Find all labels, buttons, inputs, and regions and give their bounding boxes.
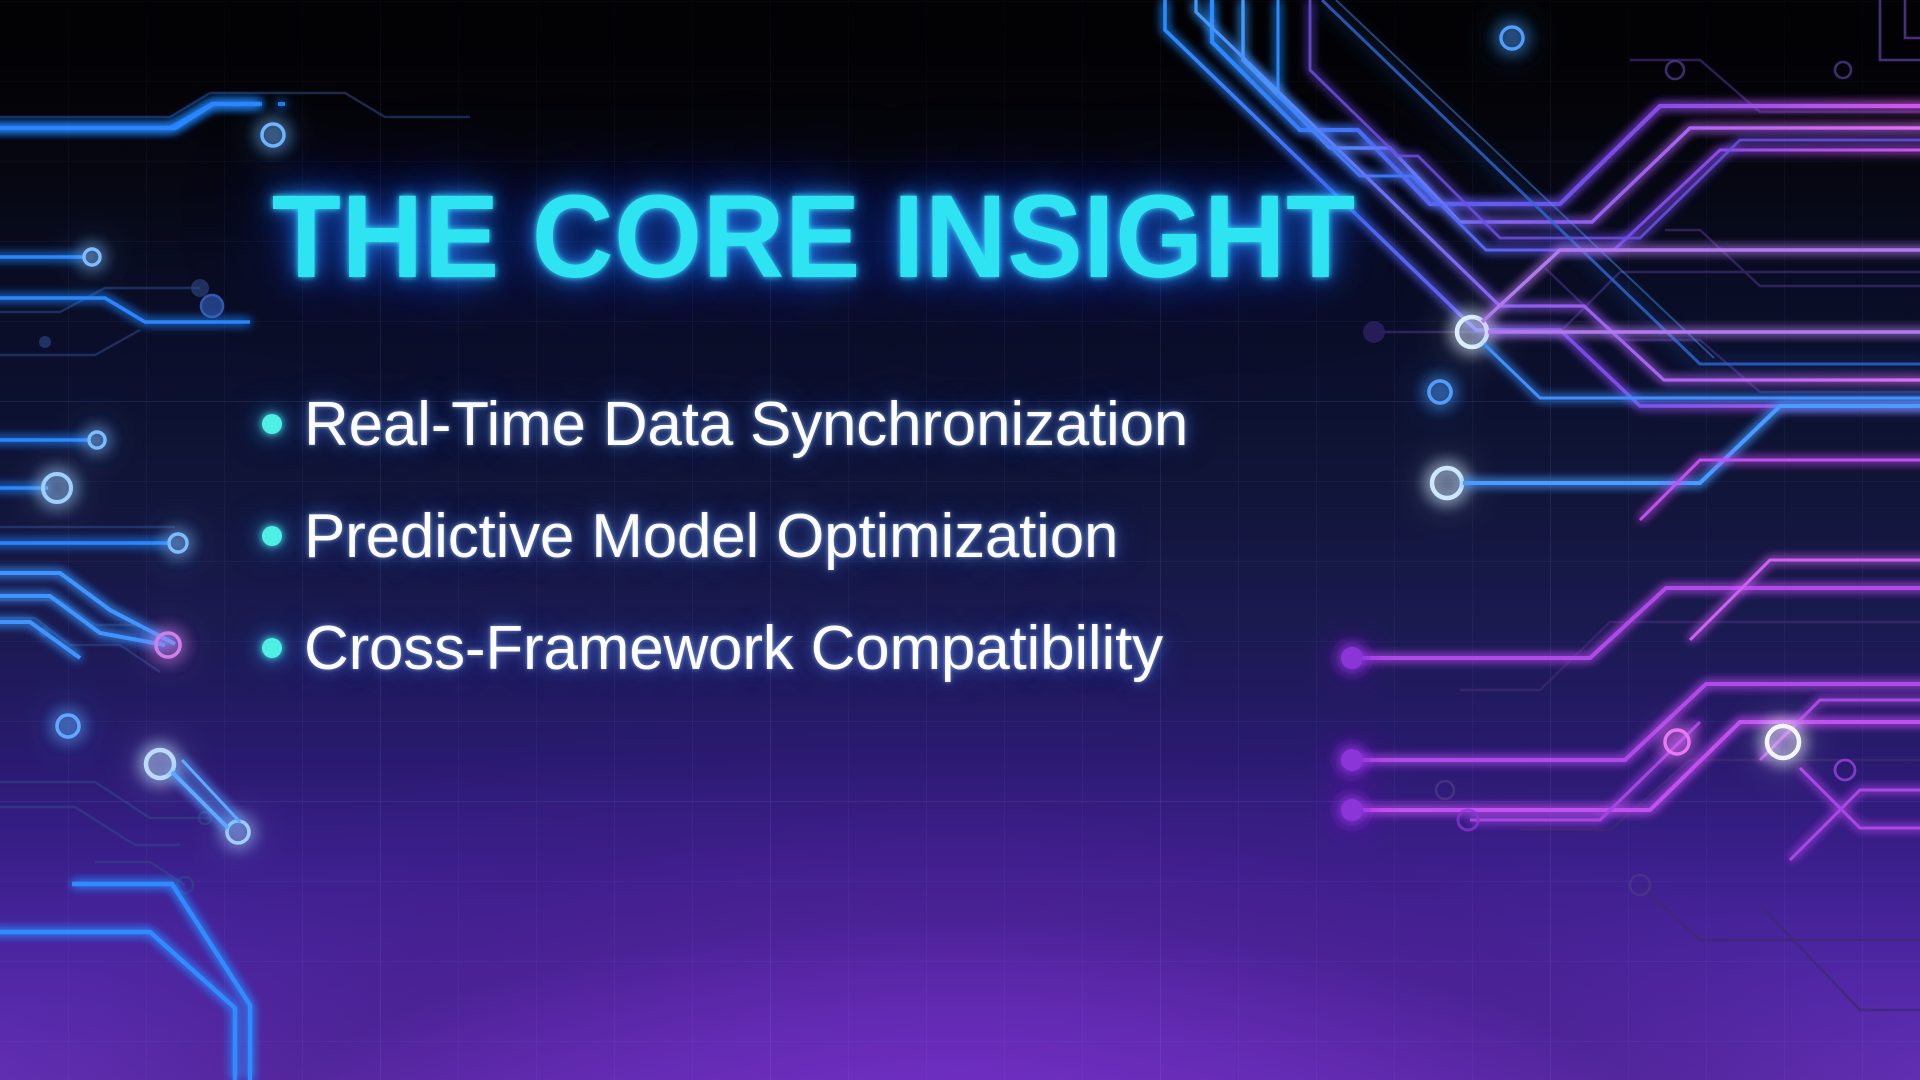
list-item-label: Cross-Framework Compatibility: [304, 613, 1163, 684]
slide-canvas: THE CORE INSIGHT Real-Time Data Synchron…: [0, 0, 1920, 1080]
page-title: THE CORE INSIGHT: [272, 178, 1318, 296]
slide-content: THE CORE INSIGHT Real-Time Data Synchron…: [0, 0, 1920, 1080]
bullet-list: Real-Time Data Synchronization Predictiv…: [262, 368, 1382, 704]
bullet-dot-icon: [262, 414, 282, 434]
list-item: Predictive Model Optimization: [262, 480, 1382, 592]
bullet-dot-icon: [262, 638, 282, 658]
bullet-dot-icon: [262, 526, 282, 546]
list-item: Cross-Framework Compatibility: [262, 592, 1382, 704]
list-item: Real-Time Data Synchronization: [262, 368, 1382, 480]
list-item-label: Real-Time Data Synchronization: [304, 389, 1188, 460]
list-item-label: Predictive Model Optimization: [304, 501, 1118, 572]
